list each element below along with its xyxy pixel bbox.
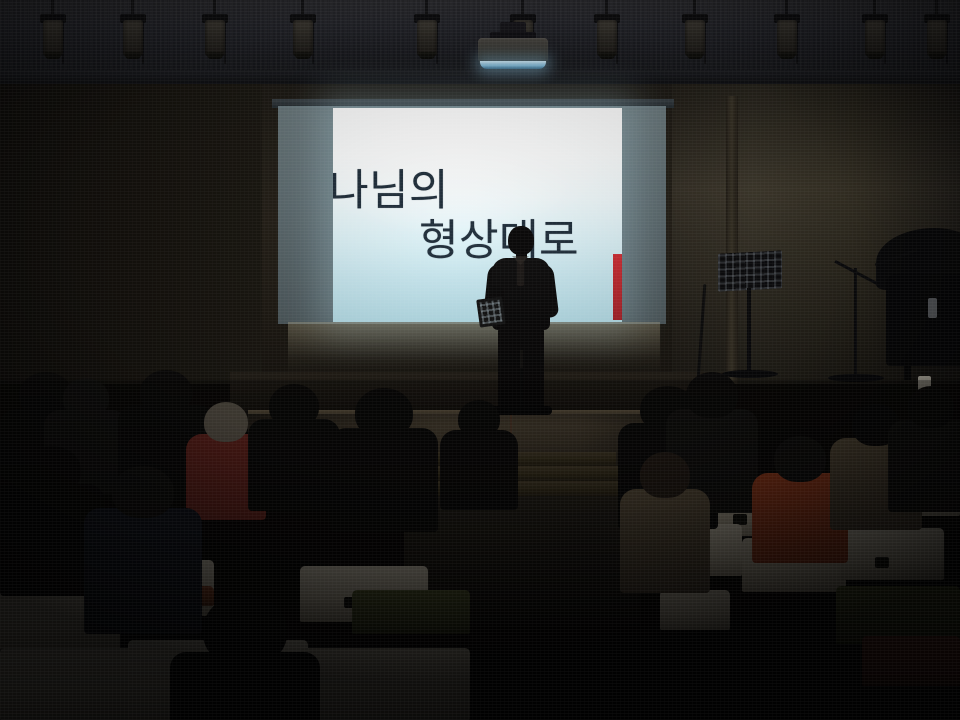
music-stand-pole xyxy=(747,288,751,374)
piano-body xyxy=(886,274,960,366)
fixture-lens xyxy=(207,52,223,59)
audience-head xyxy=(23,446,81,494)
ceiling-projector-icon xyxy=(478,36,548,76)
seat-clip xyxy=(875,557,889,568)
fixture-lens xyxy=(295,52,311,59)
fixture-body xyxy=(927,20,947,56)
fixture-body xyxy=(685,20,705,56)
audience-torso xyxy=(330,428,438,532)
audience-torso xyxy=(248,419,340,511)
audience-head xyxy=(112,466,174,518)
fixture-body xyxy=(43,20,63,56)
auditorium-seat xyxy=(300,648,470,720)
audience-head xyxy=(774,436,826,482)
audience-member xyxy=(248,384,340,520)
piano-leg xyxy=(904,354,911,380)
handheld-device-icon xyxy=(476,296,506,327)
fixture-body xyxy=(777,20,797,56)
music-stand-desk xyxy=(718,250,782,291)
audience-head xyxy=(640,452,690,498)
audience-member xyxy=(888,386,960,520)
audience-head xyxy=(269,384,319,428)
fixture-body xyxy=(293,20,313,56)
audience-member xyxy=(170,594,320,720)
equipment-indicator-light xyxy=(928,298,937,318)
fixture-lens xyxy=(929,52,945,59)
speaker-necktie xyxy=(517,260,524,286)
audience-member xyxy=(620,452,710,602)
audience-head xyxy=(686,372,738,418)
fixture-body xyxy=(597,20,617,56)
auditorium-seat xyxy=(352,590,470,634)
auditorium-photo: 하나님의 형상대로 xyxy=(0,0,960,720)
grand-piano xyxy=(876,228,960,380)
left-wall xyxy=(0,84,262,384)
audience-member xyxy=(330,388,438,542)
slide-accent-bar xyxy=(613,254,622,320)
audience-head xyxy=(204,402,248,442)
fixture-lens xyxy=(599,52,615,59)
audience-head xyxy=(63,378,109,418)
mic-stand-pole xyxy=(520,368,523,408)
speaker-head xyxy=(508,226,534,255)
fixture-body xyxy=(205,20,225,56)
auditorium-seat xyxy=(862,636,960,686)
fixture-body xyxy=(123,20,143,56)
audience-head xyxy=(140,370,192,414)
audience-torso xyxy=(620,489,710,593)
fixture-lens xyxy=(45,52,61,59)
projection-spill xyxy=(288,322,660,374)
audience-torso xyxy=(888,420,960,512)
audience-head xyxy=(355,388,413,438)
audience-head xyxy=(203,594,287,666)
projector-lens-glow xyxy=(480,61,546,69)
fixture-lens xyxy=(867,52,883,59)
fixture-lens xyxy=(125,52,141,59)
fixture-body xyxy=(417,20,437,56)
audience-head xyxy=(458,400,500,438)
fixture-lens xyxy=(419,52,435,59)
boom-stand-pole xyxy=(854,268,857,378)
audience-member xyxy=(440,400,518,518)
fixture-lens xyxy=(687,52,703,59)
music-stand xyxy=(718,252,782,384)
fixture-lens xyxy=(779,52,795,59)
audience-torso xyxy=(440,430,518,510)
fixture-body xyxy=(865,20,885,56)
audience-head xyxy=(908,386,954,428)
